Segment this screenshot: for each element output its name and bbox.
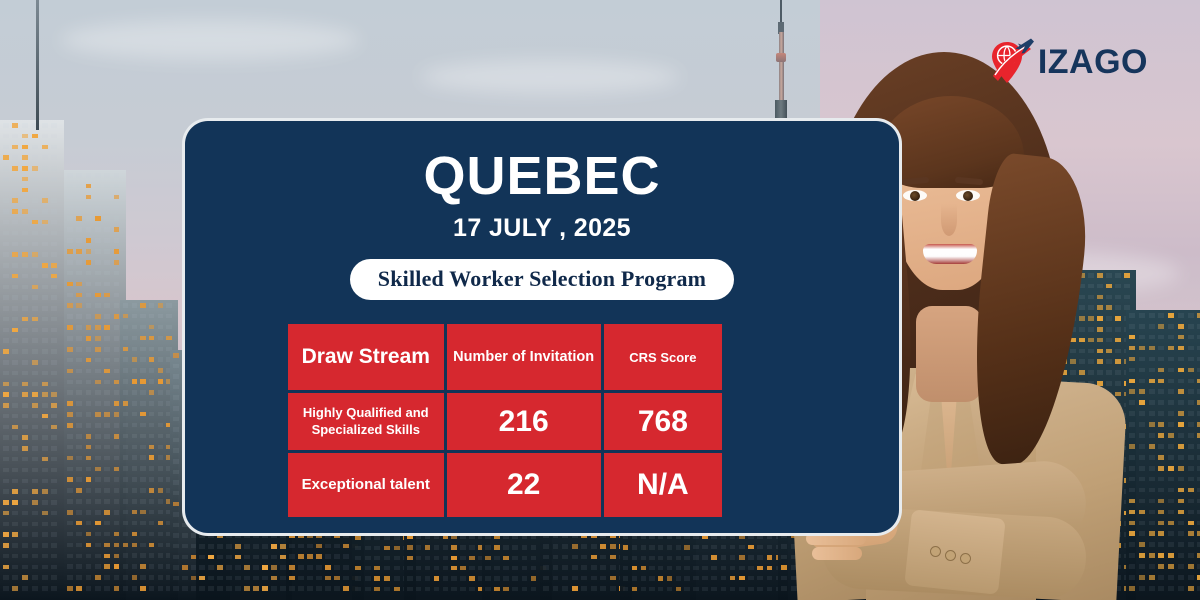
column-header-crs: CRS Score (604, 324, 722, 390)
brand-logo[interactable]: IZAGO (990, 36, 1148, 88)
draw-results-table: Draw Stream Number of Invitation CRS Sco… (285, 321, 725, 520)
location-pin-globe-plane-icon (990, 36, 1036, 88)
building (0, 120, 64, 600)
cell-crs-score: 768 (604, 393, 722, 450)
column-header-invitations: Number of Invitation (447, 324, 601, 390)
brand-name: IZAGO (1038, 43, 1148, 82)
cell-draw-stream: Highly Qualified and Specialized Skills (288, 393, 444, 450)
table-header-row: Draw Stream Number of Invitation CRS Sco… (288, 324, 722, 390)
draw-date: 17 JULY , 2025 (185, 214, 899, 243)
page-title: QUEBEC (185, 149, 899, 203)
building (1126, 310, 1200, 600)
program-badge: Skilled Worker Selection Program (350, 259, 734, 300)
cell-invitations: 22 (447, 453, 601, 517)
cell-crs-score: N/A (604, 453, 722, 517)
cell-draw-stream: Exceptional talent (288, 453, 444, 517)
announcement-card: QUEBEC 17 JULY , 2025 Skilled Worker Sel… (182, 118, 902, 536)
cloud (60, 20, 360, 60)
table-row: Highly Qualified and Specialized Skills … (288, 393, 722, 450)
cell-invitations: 216 (447, 393, 601, 450)
building (64, 170, 126, 600)
table-row: Exceptional talent 22 N/A (288, 453, 722, 517)
antenna (36, 0, 39, 130)
column-header-draw-stream: Draw Stream (288, 324, 444, 390)
cloud (420, 60, 680, 94)
